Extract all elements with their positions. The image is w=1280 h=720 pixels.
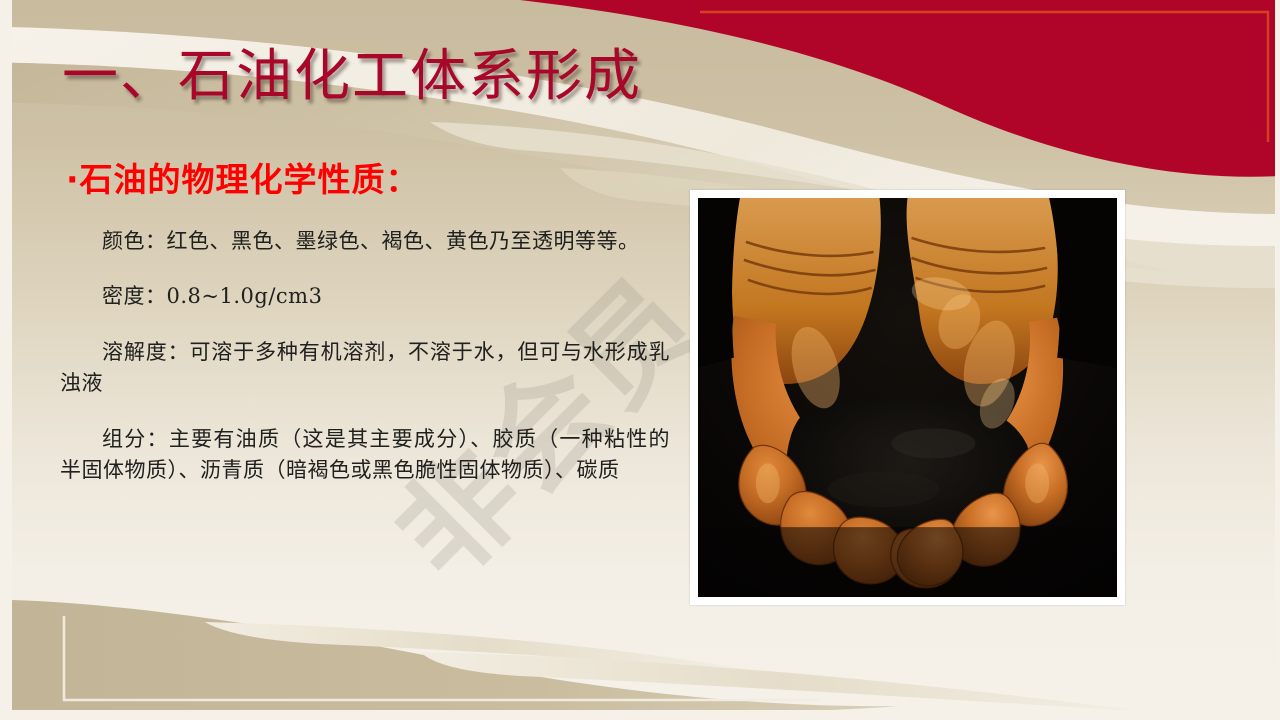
bullet-color: 颜色：红色、黑色、墨绿色、褐色、黄色乃至透明等等。	[60, 226, 670, 258]
crude-oil-photo-frame	[690, 190, 1125, 605]
slide-title: 一、石油化工体系形成	[62, 48, 642, 107]
slide-left-margin	[0, 0, 12, 720]
slide-bottom-margin	[0, 710, 1280, 720]
slide-right-margin	[1275, 0, 1280, 720]
slide-body: ·石油的物理化学性质： 颜色：红色、黑色、墨绿色、褐色、黄色乃至透明等等。 密度…	[60, 160, 670, 511]
bullet-solubility: 溶解度：可溶于多种有机溶剂，不溶于水，但可与水形成乳浊液	[60, 337, 670, 400]
presentation-slide: 非会员 一、石油化工体系形成 ·石油的物理化学性质： 颜色：红色、黑色、墨绿色、…	[0, 0, 1280, 720]
bullet-density: 密度：0.8~1.0g/cm3	[60, 281, 670, 313]
crude-oil-photo	[698, 198, 1117, 597]
oil-in-hands-illustration	[698, 198, 1117, 597]
bullet-composition: 组分：主要有油质（这是其主要成分）、胶质（一种粘性的半固体物质）、沥青质（暗褐色…	[60, 424, 670, 487]
slide-subheading: ·石油的物理化学性质：	[66, 160, 670, 200]
